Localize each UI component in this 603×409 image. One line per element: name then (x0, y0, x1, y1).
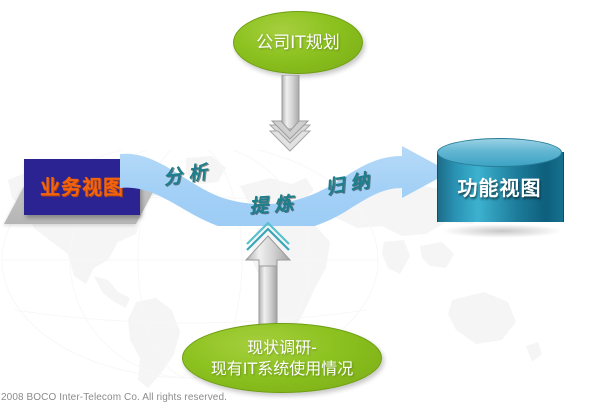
callout-it-planning[interactable]: 公司IT规划 (233, 11, 363, 74)
function-view-label: 功能视图 (437, 162, 562, 210)
callout-it-planning-label: 公司IT规划 (256, 32, 339, 54)
slide-canvas: 业务视图 分析 提炼 归纳 功能视图 公司IT规划 (0, 0, 603, 409)
function-view-cylinder[interactable]: 功能视图 (437, 138, 562, 236)
callout-current-state-survey-label: 现状调研- 现有IT系统使用情况 (211, 337, 354, 379)
footer-copyright: 2008 BOCO Inter-Telecom Co. All rights r… (0, 392, 603, 403)
callout-current-state-survey[interactable]: 现状调研- 现有IT系统使用情况 (182, 323, 382, 393)
business-view-label: 业务视图 (40, 177, 124, 197)
arrow-up-icon (240, 220, 296, 328)
process-step-refine: 提炼 (248, 188, 300, 218)
arrow-down-icon (266, 75, 314, 153)
